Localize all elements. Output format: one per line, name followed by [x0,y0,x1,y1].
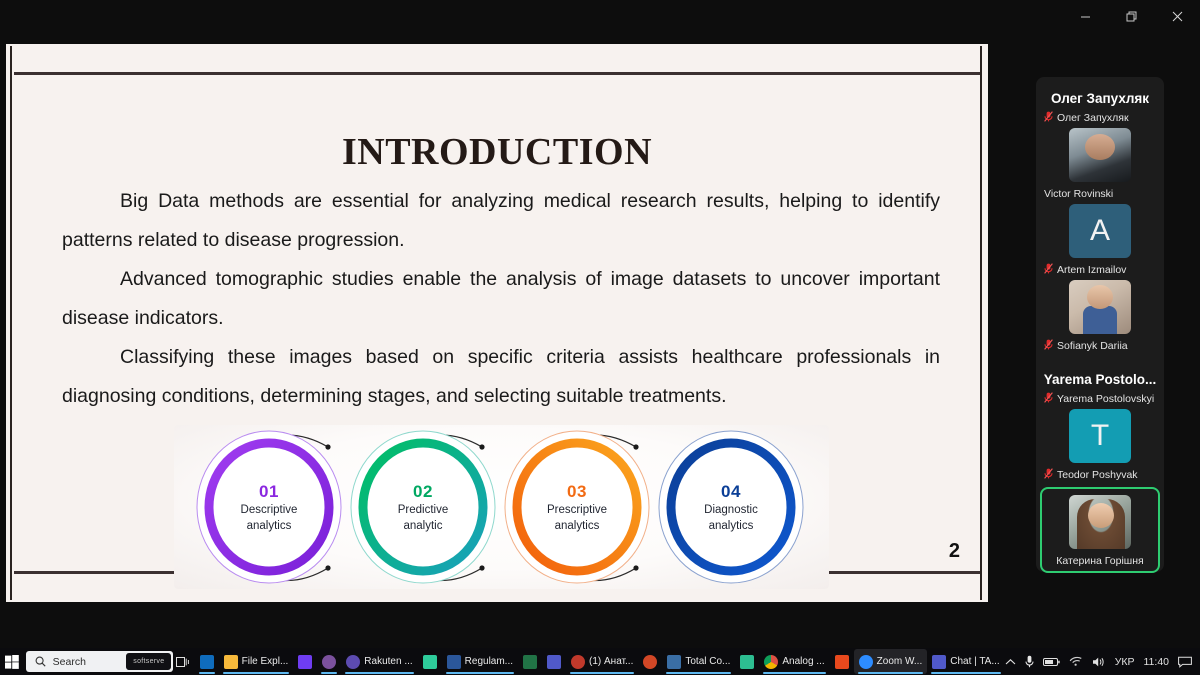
taskbar-app-viber[interactable] [317,649,341,674]
taskbar-app-outlook[interactable] [195,649,219,674]
taskbar-app-rakuten-label: Rakuten ... [364,656,412,667]
taskbar-app-total-commander[interactable]: Total Co... [662,649,735,674]
restore-button[interactable] [1108,0,1154,32]
desktop-root: INTRODUCTION Big Data methods are essent… [0,0,1200,675]
taskbar-app-chrome-label: Analog ... [782,656,824,667]
participant-name-teodor: Teodor Poshyvak [1057,469,1138,481]
participant-name-yarema: Yarema Postolovskyi [1057,393,1154,405]
participant-row-oleh[interactable]: Олег Запухляк [1036,110,1164,126]
mic-muted-icon [1044,339,1053,353]
system-tray[interactable]: УКР 11:40 [1005,655,1200,668]
taskbar-app-nvidia[interactable] [293,649,317,674]
outlook-icon [200,655,214,669]
nvidia-icon [298,655,312,669]
active-speaker-name-secondary: Yarema Postolo... [1036,354,1164,387]
taskbar-app-powerpoint[interactable] [638,649,662,674]
taskbar-app-list[interactable]: File Expl... Rakuten ... Regulam... [195,649,1005,674]
slide-paragraph-1: Big Data methods are essential for analy… [62,182,940,260]
wifi-icon[interactable] [1069,656,1083,667]
taskbar-app-teams[interactable] [542,649,566,674]
participant-name-oleh: Олег Запухляк [1057,112,1129,124]
taskbar-app-chrome[interactable]: Analog ... [759,649,829,674]
file-explorer-icon [224,655,238,669]
evernote-icon [740,655,754,669]
taskbar-app-total-commander-label: Total Co... [685,656,730,667]
diagram-node-1-label-line1: Descriptive [241,503,298,517]
diagram-node-2-label-line1: Predictive [398,503,449,517]
diagram-node-1-label-line2: analytics [247,519,292,533]
slide-page-number: 2 [949,540,960,563]
taskbar-app-word[interactable]: Regulam... [442,649,518,674]
teams-chat-icon [932,655,946,669]
diagram-node-3-label-line2: analytics [555,519,600,533]
participant-name-kateryna: Катерина Горішня [1056,555,1143,567]
viber-icon [322,655,336,669]
windows-taskbar[interactable]: Search softserve File Expl... [0,648,1200,675]
avatar-initial-teodor: T [1091,419,1109,453]
participant-name-victor: Victor Rovinski [1044,188,1113,200]
word-icon [447,655,461,669]
diagram-node-3-number: 03 [567,482,587,501]
taskbar-app-telegram-label: (1) Анат... [589,656,633,667]
taskbar-app-zoom[interactable]: Zoom W... [854,649,928,674]
teams-icon [547,655,561,669]
diagram-node-2-label-line2: analytic [404,519,443,533]
slide-title: INTRODUCTION [6,130,988,174]
taskbar-app-teams-chat[interactable]: Chat | TA... [927,649,1004,674]
taskbar-app-excel[interactable] [518,649,542,674]
taskbar-app-teams-chat-label: Chat | TA... [950,656,999,667]
avatar-initial-artem: A [1090,214,1110,248]
shared-screen-area[interactable]: INTRODUCTION Big Data methods are essent… [6,44,988,602]
participant-avatar-artem[interactable]: A [1069,204,1131,258]
diagram-node-3-label-line1: Prescriptive [547,503,607,517]
window-title-bar [0,0,1200,32]
participant-name-artem: Artem Izmailov [1057,264,1126,276]
taskbar-app-pdf[interactable] [830,649,854,674]
diagram-node-1-number: 01 [259,482,279,501]
slide-rule-top [14,72,980,75]
participant-name-sofianyk: Sofianyk Dariia [1057,340,1128,352]
participant-avatar-teodor[interactable]: T [1069,409,1131,463]
participant-row-kateryna[interactable]: Катерина Горішня [1042,553,1158,569]
chevron-up-icon[interactable] [1005,658,1016,666]
search-badge-softserve[interactable]: softserve [126,653,171,670]
diagram-node-1: 01 Descriptive analytics [195,431,343,583]
mic-muted-icon [1044,263,1053,277]
speaker-icon[interactable] [1092,656,1106,668]
microphone-icon[interactable] [1025,655,1034,668]
mic-muted-icon [1044,392,1053,406]
total-commander-icon [667,655,681,669]
taskbar-app-evernote[interactable] [735,649,759,674]
telegram-icon [571,655,585,669]
zoom-icon [859,655,873,669]
diagram-node-3: 03 Prescriptive analytics [503,431,651,583]
taskbar-app-telegram[interactable]: (1) Анат... [566,649,638,674]
tray-language[interactable]: УКР [1115,656,1135,668]
taskbar-app-file-explorer[interactable]: File Expl... [219,649,294,674]
windows-logo-icon[interactable] [0,655,24,669]
powerpoint-icon [643,655,657,669]
zoom-participant-sidebar[interactable]: Олег Запухляк Олег Запухляк Victor Rovin… [1036,77,1164,572]
participant-row-victor[interactable]: Victor Rovinski [1036,186,1164,202]
diagram-node-4-label-line2: analytics [709,519,754,533]
diagram-node-4-number: 04 [721,482,741,501]
taskbar-app-file-explorer-label: File Expl... [242,656,289,667]
taskbar-app-rakuten[interactable]: Rakuten ... [341,649,417,674]
participant-video-sofianyk[interactable] [1069,280,1131,334]
diagram-node-4: 04 Diagnostic analytics [657,431,805,583]
active-speaker-name-primary: Олег Запухляк [1036,77,1164,106]
notification-icon[interactable] [1178,656,1192,668]
slide-paragraph-3: Classifying these images based on specif… [62,338,940,416]
diagram-node-2: 02 Predictive analytic [349,431,497,583]
grammarly-icon [423,655,437,669]
rakuten-icon [346,655,360,669]
diagram-node-4-label-line1: Diagnostic [704,503,758,517]
mic-muted-icon [1044,468,1053,482]
participant-video-victor[interactable] [1069,128,1131,182]
participant-tile-active-kateryna[interactable]: Катерина Горішня [1040,487,1160,573]
analytics-diagram: 01 Descriptive analytics 02 Predictive a… [174,425,829,589]
presentation-slide: INTRODUCTION Big Data methods are essent… [6,44,988,602]
battery-icon[interactable] [1043,657,1060,667]
chrome-icon [764,655,778,669]
participant-row-artem[interactable]: Artem Izmailov [1036,262,1164,278]
close-button[interactable] [1154,0,1200,32]
slide-paragraph-2: Advanced tomographic studies enable the … [62,260,940,338]
pdf-icon [835,655,849,669]
participant-row-yarema[interactable]: Yarema Postolovskyi [1036,391,1164,407]
search-input[interactable]: Search softserve [26,651,174,672]
taskbar-app-word-label: Regulam... [465,656,513,667]
minimize-button[interactable] [1062,0,1108,32]
excel-icon [523,655,537,669]
taskbar-app-zoom-label: Zoom W... [877,656,923,667]
search-placeholder: Search [53,656,86,668]
participant-row-sofianyk[interactable]: Sofianyk Dariia [1036,338,1164,354]
taskbar-app-grammarly[interactable] [418,649,442,674]
participant-video-kateryna[interactable] [1069,495,1131,549]
mic-muted-icon [1044,111,1053,125]
slide-body: Big Data methods are essential for analy… [62,182,940,416]
tray-clock[interactable]: 11:40 [1144,656,1170,668]
task-view-icon[interactable] [173,656,192,668]
diagram-node-2-number: 02 [413,482,433,501]
search-icon [35,656,46,667]
participant-row-teodor[interactable]: Teodor Poshyvak [1036,467,1164,483]
